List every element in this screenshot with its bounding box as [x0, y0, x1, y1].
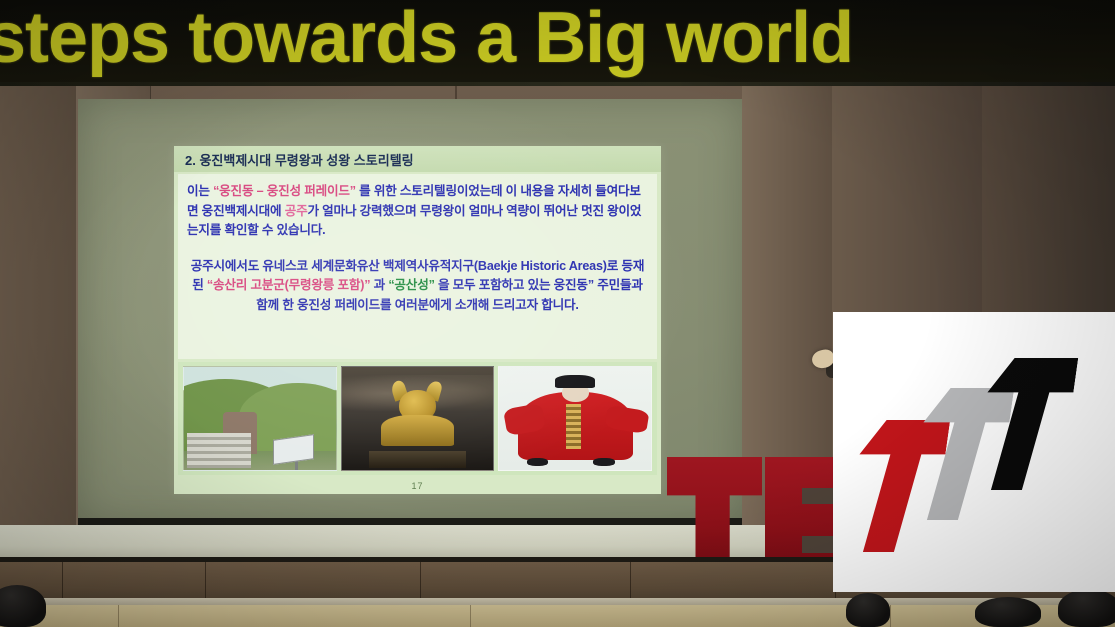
floor-seam	[470, 605, 471, 627]
photo-golden-bust	[341, 366, 495, 471]
wall-panel	[0, 85, 77, 585]
logo-letter-t-black-icon	[974, 358, 1079, 490]
banner-bottom-edge	[0, 82, 1115, 86]
photo-tomb-mound	[183, 366, 337, 471]
king-shoe-right	[593, 458, 614, 466]
para2-highlight-songsanri: “송산리 고분군(무령왕릉 포함)”	[207, 278, 370, 292]
para2-highlight-gongsanseong: “공산성”	[388, 278, 434, 292]
statue-torso	[381, 415, 454, 446]
floor-seam	[890, 605, 891, 627]
photo-red-robe-king	[498, 366, 652, 471]
slide-title: 2. 웅진백제시대 무령왕과 성왕 스토리텔링	[174, 150, 414, 169]
stage-panel-seam	[630, 562, 631, 600]
logo-letter-t-red-icon	[846, 420, 951, 552]
stage-panel-seam	[205, 562, 206, 600]
slide-page-number: 17	[174, 481, 661, 491]
stage-panel-seam	[62, 562, 63, 600]
king-hat	[555, 375, 594, 387]
venue-banner: steps towards a Big world	[0, 0, 1115, 86]
tedx-stage-photo: steps towards a Big world 2. 웅진백제시대 무령왕과…	[0, 0, 1115, 627]
venue-banner-text: steps towards a Big world	[0, 0, 1106, 80]
slide-title-bar: 2. 웅진백제시대 무령왕과 성왕 스토리텔링	[174, 146, 661, 172]
slide-body: 이는 “웅진동 – 웅진성 퍼레이드” 를 위한 스토리텔링이었는데 이 내용을…	[178, 174, 657, 359]
slide-paragraph-1: 이는 “웅진동 – 웅진성 퍼레이드” 를 위한 스토리텔링이었는데 이 내용을…	[178, 174, 657, 241]
tripleT-logo	[833, 312, 1115, 592]
audience-head	[1058, 589, 1115, 627]
para1-highlight-gongju: 공주	[285, 204, 308, 218]
statue-plinth	[369, 451, 466, 467]
audience-head	[846, 593, 890, 627]
king-belt	[566, 404, 581, 449]
floor-seam	[118, 605, 119, 627]
info-sign	[273, 434, 314, 464]
para1-highlight-parade: “웅진동 – 웅진성 퍼레이드”	[213, 184, 356, 198]
audience-head	[975, 597, 1041, 627]
presentation-slide: 2. 웅진백제시대 무령왕과 성왕 스토리텔링 이는 “웅진동 – 웅진성 퍼레…	[174, 146, 661, 494]
para1-seg1: 이는	[187, 184, 213, 198]
stage-panel-seam	[420, 562, 421, 600]
king-shoe-left	[527, 458, 548, 466]
para2-seg3: 과	[370, 278, 388, 292]
slide-photo-strip	[178, 362, 657, 475]
stone-stairs	[187, 433, 251, 468]
hall-floor	[0, 605, 1115, 627]
slide-paragraph-2: 공주시에서도 유네스코 세계문화유산 백제역사유적지구(Baekje Histo…	[178, 241, 657, 316]
